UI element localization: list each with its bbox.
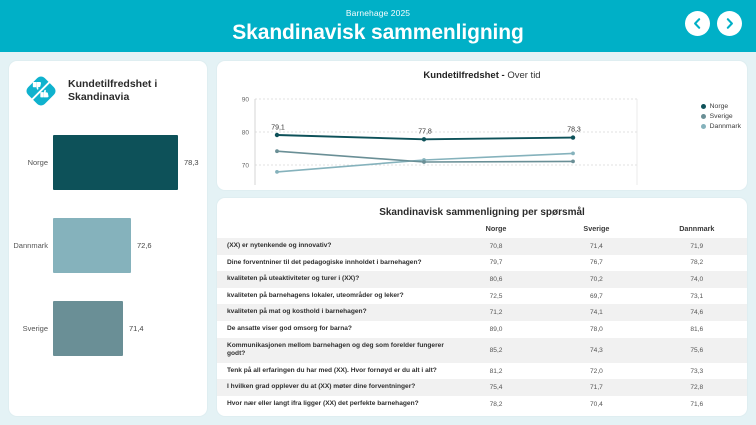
cell-question: Kommunikasjonen mellom barnehagen og deg… [217,338,446,363]
cell-norge: 80,6 [446,271,546,288]
trend-chart-title-sub: Over tid [505,70,541,81]
cell-sverige: 70,2 [546,271,646,288]
table-row[interactable]: kvaliteten på uteaktiviteter og turer i … [217,271,747,288]
legend-item-sverige[interactable]: Sverige [701,113,741,120]
cell-sverige: 74,1 [546,304,646,321]
cell-danmark: 74,0 [647,271,747,288]
chevron-left-icon [691,17,704,30]
bar-label-sverige: Sverige [9,324,53,333]
bar-danmark [53,218,131,273]
question-table-card: Skandinavisk sammenligning per spørsmål … [216,197,748,417]
bar-norge [53,135,178,190]
point-label-norge-2023: 79,1 [271,125,285,132]
cell-sverige: 71,7 [546,379,646,396]
svg-text:70: 70 [242,163,250,170]
next-slide-button[interactable] [717,11,742,36]
cell-sverige: 74,3 [546,338,646,363]
legend-label-sverige: Sverige [710,113,733,120]
cell-norge: 71,2 [446,304,546,321]
country-bar-chart: Norge 78,3 Dannmark 72,6 Sverige 71,4 [9,135,207,356]
cell-danmark: 81,6 [647,321,747,338]
cell-norge: 79,7 [446,255,546,272]
cell-norge: 75,4 [446,379,546,396]
cell-question: Hvor nær eller langt ifra ligger (XX) de… [217,396,446,413]
col-header-sverige: Sverige [546,221,646,238]
bar-row-sverige: Sverige 71,4 [9,301,207,356]
col-header-question [217,221,446,238]
legend-dot-danmark [701,124,706,129]
trend-chart-plot: 90 80 70 60 2023 2024 2025 [217,81,749,185]
cell-danmark: 71,6 [647,396,747,413]
table-row[interactable]: (XX) er nytenkende og innovativ? 70,8 71… [217,238,747,255]
table-row[interactable]: Tenk på all erfaringen du har med (XX). … [217,363,747,380]
cell-sverige: 76,7 [546,255,646,272]
table-row[interactable]: I hvilken grad opplever du at (XX) møter… [217,379,747,396]
cell-question: I hvilken grad opplever du at (XX) møter… [217,379,446,396]
cell-question: Tenk på all erfaringen du har med (XX). … [217,363,446,380]
table-row[interactable]: Dine forventniner til det pedagogiske in… [217,255,747,272]
point-label-norge-2025: 78,3 [567,127,581,134]
legend-label-danmark: Dannmark [710,123,741,130]
cell-sverige: 71,4 [546,238,646,255]
cell-danmark: 75,6 [647,338,747,363]
col-header-danmark: Dannmark [647,221,747,238]
legend-dot-sverige [701,114,706,119]
cell-danmark: 73,3 [647,363,747,380]
legend-item-danmark[interactable]: Dannmark [701,123,741,130]
trend-chart-legend: Norge Sverige Dannmark [701,103,741,130]
bar-label-norge: Norge [9,158,53,167]
cell-norge: 85,2 [446,338,546,363]
cell-norge: 70,8 [446,238,546,255]
page-header: Barnehage 2025 Skandinavisk sammenlignin… [0,0,756,52]
cell-danmark: 72,8 [647,379,747,396]
table-head: Norge Sverige Dannmark [217,221,747,238]
table-row[interactable]: kvaliteten på mat og kosthold i barnehag… [217,304,747,321]
cell-danmark: 74,6 [647,304,747,321]
trend-chart-title: Kundetilfredshet - Over tid [217,61,747,81]
trend-chart-card: Kundetilfredshet - Over tid 90 [216,60,748,191]
point-label-norge-2024: 77,8 [418,129,432,136]
header-subtitle: Barnehage 2025 [346,8,410,19]
cell-danmark: 73,1 [647,288,747,305]
page-title: Skandinavisk sammenligning [232,20,524,45]
table-row[interactable]: Kommunikasjonen mellom barnehagen og deg… [217,338,747,363]
cell-norge: 78,2 [446,396,546,413]
legend-dot-norge [701,104,706,109]
bar-label-danmark: Dannmark [9,241,53,250]
table-row[interactable]: Hvor nær eller langt ifra ligger (XX) de… [217,396,747,413]
bar-value-sverige: 71,4 [129,324,144,333]
brand-block: Kundetilfredshet i Skandinavia [9,61,207,109]
cell-question: (XX) er nytenkende og innovativ? [217,238,446,255]
dashboard-root: Barnehage 2025 Skandinavisk sammenlignin… [0,0,756,425]
col-header-norge: Norge [446,221,546,238]
cell-norge: 72,5 [446,288,546,305]
bar-sverige [53,301,123,356]
cell-question: De ansatte viser god omsorg for barna? [217,321,446,338]
cell-sverige: 78,0 [546,321,646,338]
table-row[interactable]: De ansatte viser god omsorg for barna? 8… [217,321,747,338]
svg-text:90: 90 [242,97,250,104]
thumbs-up-down-icon [23,73,59,109]
cell-danmark: 78,2 [647,255,747,272]
cell-sverige: 72,0 [546,363,646,380]
svg-text:80: 80 [242,130,250,137]
bar-row-norge: Norge 78,3 [9,135,207,190]
cell-question: kvaliteten på barnehagens lokaler, uteom… [217,288,446,305]
cell-norge: 89,0 [446,321,546,338]
cell-question: kvaliteten på mat og kosthold i barnehag… [217,304,446,321]
table-header-row: Norge Sverige Dannmark [217,221,747,238]
trend-chart-svg: 90 80 70 60 2023 2024 2025 [217,81,749,185]
table-body: (XX) er nytenkende og innovativ? 70,8 71… [217,238,747,413]
country-comparison-card: Kundetilfredshet i Skandinavia Norge 78,… [8,60,208,417]
cell-question: Dine forventniner til det pedagogiske in… [217,255,446,272]
chevron-right-icon [723,17,736,30]
prev-slide-button[interactable] [685,11,710,36]
bar-value-norge: 78,3 [184,158,199,167]
bar-row-danmark: Dannmark 72,6 [9,218,207,273]
question-table: Norge Sverige Dannmark (XX) er nytenkend… [217,221,747,413]
cell-sverige: 69,7 [546,288,646,305]
question-table-title: Skandinavisk sammenligning per spørsmål [217,198,747,221]
trend-chart-title-main: Kundetilfredshet - [423,70,504,81]
slide-nav [685,11,742,36]
cell-danmark: 71,9 [647,238,747,255]
cell-norge: 81,2 [446,363,546,380]
table-row[interactable]: kvaliteten på barnehagens lokaler, uteom… [217,288,747,305]
legend-item-norge[interactable]: Norge [701,103,741,110]
bar-value-danmark: 72,6 [137,241,152,250]
cell-sverige: 70,4 [546,396,646,413]
cell-question: kvaliteten på uteaktiviteter og turer i … [217,271,446,288]
brand-title: Kundetilfredshet i Skandinavia [68,78,188,104]
legend-label-norge: Norge [710,103,729,110]
